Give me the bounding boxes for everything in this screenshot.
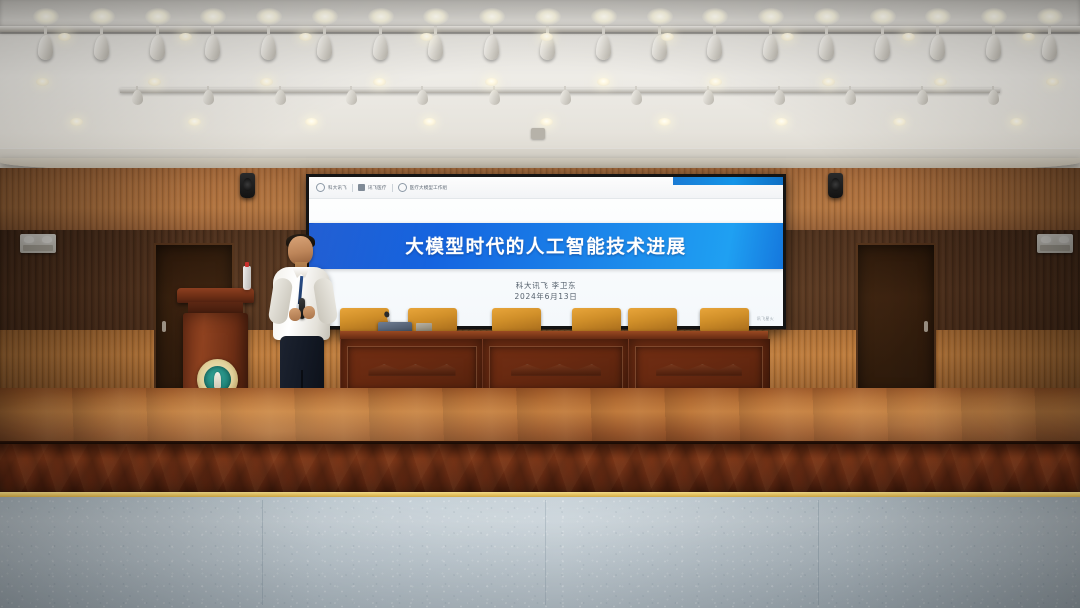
track-spotlight bbox=[150, 26, 165, 60]
lecture-hall-photo: 科大讯飞 讯飞医疗 医疗大模型工作组 大模型时代的人工智能技术进展 科大讯飞 李 bbox=[0, 0, 1080, 608]
panel-frame bbox=[347, 346, 477, 391]
track-spotlight bbox=[652, 26, 667, 60]
recessed-downlight bbox=[775, 118, 788, 126]
track-spotlight-rear bbox=[631, 86, 642, 105]
track-spotlight bbox=[540, 26, 555, 60]
spotlight-head-icon bbox=[988, 90, 999, 105]
track-spotlight bbox=[986, 26, 1001, 60]
recessed-downlight bbox=[781, 33, 794, 41]
spotlight-head-icon bbox=[346, 90, 357, 105]
spotlight-head-icon bbox=[703, 90, 714, 105]
emergency-light-icon-right bbox=[1037, 234, 1073, 253]
emergency-lamp-icon bbox=[1059, 236, 1069, 243]
track-spotlight bbox=[763, 26, 778, 60]
spotlight-head-icon bbox=[317, 35, 332, 60]
track-spotlight-rear bbox=[703, 86, 714, 105]
recessed-downlight bbox=[822, 78, 835, 86]
slide-header-bar: 科大讯飞 讯飞医疗 医疗大模型工作组 bbox=[309, 177, 783, 199]
spotlight-head-icon bbox=[38, 35, 53, 60]
header-divider bbox=[392, 184, 393, 192]
spotlight-head-icon bbox=[1042, 35, 1057, 60]
spotlight-glow bbox=[814, 8, 840, 25]
recessed-downlight bbox=[658, 118, 671, 126]
emergency-light-label bbox=[23, 245, 53, 251]
header-logo-3-label: 医疗大模型工作组 bbox=[410, 185, 448, 191]
header-divider bbox=[352, 184, 353, 192]
spotlight-head-icon bbox=[261, 35, 276, 60]
track-spotlight bbox=[94, 26, 109, 60]
spotlight-head-icon bbox=[845, 90, 856, 105]
recessed-downlight bbox=[420, 33, 433, 41]
recessed-downlight bbox=[661, 33, 674, 41]
recessed-downlight bbox=[893, 118, 906, 126]
panel-zigzag-motif bbox=[511, 364, 601, 375]
projection-screen[interactable]: 科大讯飞 讯飞医疗 医疗大模型工作组 大模型时代的人工智能技术进展 科大讯飞 李 bbox=[306, 174, 786, 329]
track-spotlight-rear bbox=[417, 86, 428, 105]
spotlight-head-icon bbox=[417, 90, 428, 105]
track-spotlight bbox=[1042, 26, 1057, 60]
recessed-downlight bbox=[902, 33, 915, 41]
water-bottle bbox=[243, 266, 251, 290]
track-spotlight bbox=[596, 26, 611, 60]
panel-frame bbox=[635, 346, 763, 391]
spotlight-glow bbox=[368, 8, 394, 25]
spotlight-glow bbox=[870, 8, 896, 25]
slide-subtitle-block: 科大讯飞 李卫东 2024年6月13日 bbox=[309, 281, 783, 303]
spotlight-head-icon bbox=[132, 90, 143, 105]
recessed-downlight bbox=[373, 78, 386, 86]
spotlight-head-icon bbox=[774, 90, 785, 105]
recessed-downlight bbox=[423, 118, 436, 126]
track-spotlight-rear bbox=[489, 86, 500, 105]
chair bbox=[628, 308, 677, 331]
recessed-downlight bbox=[36, 78, 49, 86]
track-spotlight-rear bbox=[774, 86, 785, 105]
chair bbox=[700, 308, 749, 331]
door-knob-icon bbox=[162, 321, 166, 332]
spotlight-glow bbox=[33, 8, 59, 25]
floor-seam bbox=[818, 500, 819, 605]
panel-zigzag-motif bbox=[656, 364, 742, 375]
recessed-downlight bbox=[58, 33, 71, 41]
door-right[interactable] bbox=[856, 243, 936, 394]
track-spotlight bbox=[819, 26, 834, 60]
track-spotlight-rear bbox=[988, 86, 999, 105]
slide-presenter-line: 科大讯飞 李卫东 bbox=[309, 281, 783, 292]
spotlight-glow bbox=[145, 8, 171, 25]
spotlight-glow bbox=[1037, 8, 1063, 25]
panel-zigzag-motif bbox=[368, 364, 455, 375]
door-knob-icon bbox=[924, 321, 928, 332]
presentation-slide: 科大讯飞 讯飞医疗 医疗大模型工作组 大模型时代的人工智能技术进展 科大讯飞 李 bbox=[309, 177, 783, 326]
track-spotlight bbox=[373, 26, 388, 60]
recessed-downlight bbox=[1022, 33, 1035, 41]
spotlight-head-icon bbox=[596, 35, 611, 60]
track-spotlight bbox=[930, 26, 945, 60]
track-spotlight bbox=[205, 26, 220, 60]
emergency-light-label bbox=[1040, 245, 1070, 251]
emergency-lamp-icon bbox=[42, 236, 52, 243]
recessed-downlight bbox=[179, 33, 192, 41]
emergency-lamp-icon bbox=[1041, 236, 1051, 243]
wall-speaker-right bbox=[828, 173, 843, 198]
spotlight-head-icon bbox=[373, 35, 388, 60]
recessed-downlight bbox=[305, 118, 318, 126]
spotlight-head-icon bbox=[986, 35, 1001, 60]
header-logo-2: 讯飞医疗 bbox=[358, 184, 387, 191]
header-blue-accent bbox=[673, 177, 783, 185]
floor-seam bbox=[262, 500, 263, 605]
ceiling bbox=[0, 0, 1080, 170]
spotlight-head-icon bbox=[707, 35, 722, 60]
track-spotlight bbox=[707, 26, 722, 60]
track-spotlight-rear bbox=[845, 86, 856, 105]
track-spotlight-rear bbox=[132, 86, 143, 105]
workgroup-circle-icon bbox=[398, 183, 407, 192]
spotlight-glow bbox=[591, 8, 617, 25]
presenter-hand-left bbox=[289, 308, 301, 321]
chair bbox=[492, 308, 541, 331]
spotlight-head-icon bbox=[205, 35, 220, 60]
presenter-hand-right bbox=[303, 306, 315, 319]
header-logo-1-label: 科大讯飞 bbox=[328, 185, 347, 191]
podium-top bbox=[177, 288, 254, 303]
panel-frame bbox=[489, 346, 623, 391]
wall-speaker-left bbox=[240, 173, 255, 198]
emblem-glyph-icon bbox=[214, 372, 221, 388]
header-logo-3: 医疗大模型工作组 bbox=[398, 183, 448, 192]
track-spotlight bbox=[317, 26, 332, 60]
spotlight-head-icon bbox=[930, 35, 945, 60]
spotlight-head-icon bbox=[819, 35, 834, 60]
recessed-downlight bbox=[260, 78, 273, 86]
iflytek-circle-icon bbox=[316, 183, 325, 192]
slide-title: 大模型时代的人工智能技术进展 bbox=[405, 233, 686, 259]
recessed-downlight bbox=[485, 78, 498, 86]
track-spotlight bbox=[875, 26, 890, 60]
recessed-downlight bbox=[70, 118, 83, 126]
recessed-downlight bbox=[540, 118, 553, 126]
spotlight-head-icon bbox=[94, 35, 109, 60]
recessed-downlight bbox=[709, 78, 722, 86]
spotlight-head-icon bbox=[203, 90, 214, 105]
floor-seam bbox=[545, 500, 546, 605]
track-spotlight-rear bbox=[560, 86, 571, 105]
presenter-head bbox=[288, 236, 313, 265]
track-spotlight bbox=[484, 26, 499, 60]
spotlight-head-icon bbox=[489, 90, 500, 105]
recessed-downlight bbox=[1046, 78, 1059, 86]
track-spotlight bbox=[261, 26, 276, 60]
chair bbox=[572, 308, 621, 331]
emergency-lamp-icon bbox=[24, 236, 34, 243]
recessed-downlight bbox=[148, 78, 161, 86]
spotlight-head-icon bbox=[275, 90, 286, 105]
track-spotlight-rear bbox=[346, 86, 357, 105]
recessed-downlight bbox=[1010, 118, 1023, 126]
track-spotlight bbox=[428, 26, 443, 60]
spotlight-glow bbox=[647, 8, 673, 25]
track-spotlight bbox=[38, 26, 53, 60]
emergency-light-icon-left bbox=[20, 234, 56, 253]
spotlight-glow bbox=[312, 8, 338, 25]
medical-square-icon bbox=[358, 184, 365, 191]
audience-floor bbox=[0, 497, 1080, 608]
spotlight-glow bbox=[535, 8, 561, 25]
slide-title-band: 大模型时代的人工智能技术进展 bbox=[309, 223, 783, 269]
recessed-downlight bbox=[299, 33, 312, 41]
track-spotlight-rear bbox=[203, 86, 214, 105]
spotlight-head-icon bbox=[631, 90, 642, 105]
spotlight-head-icon bbox=[917, 90, 928, 105]
recessed-downlight bbox=[934, 78, 947, 86]
recessed-downlight bbox=[188, 118, 201, 126]
spotlight-head-icon bbox=[763, 35, 778, 60]
recessed-downlight bbox=[540, 33, 553, 41]
header-logo-2-label: 讯飞医疗 bbox=[368, 185, 387, 191]
spotlight-glow bbox=[89, 8, 115, 25]
track-spotlight-rear bbox=[917, 86, 928, 105]
ceiling-vent-icon bbox=[531, 128, 545, 139]
spotlight-head-icon bbox=[484, 35, 499, 60]
spotlight-glow bbox=[758, 8, 784, 25]
spotlight-head-icon bbox=[875, 35, 890, 60]
stage-front-panel bbox=[0, 444, 1080, 494]
spotlight-head-icon bbox=[560, 90, 571, 105]
spotlight-glow bbox=[256, 8, 282, 25]
recessed-downlight bbox=[597, 78, 610, 86]
track-spotlight-rear bbox=[275, 86, 286, 105]
slide-date-line: 2024年6月13日 bbox=[309, 292, 783, 303]
spotlight-head-icon bbox=[150, 35, 165, 60]
header-logo-1: 科大讯飞 bbox=[316, 183, 347, 192]
